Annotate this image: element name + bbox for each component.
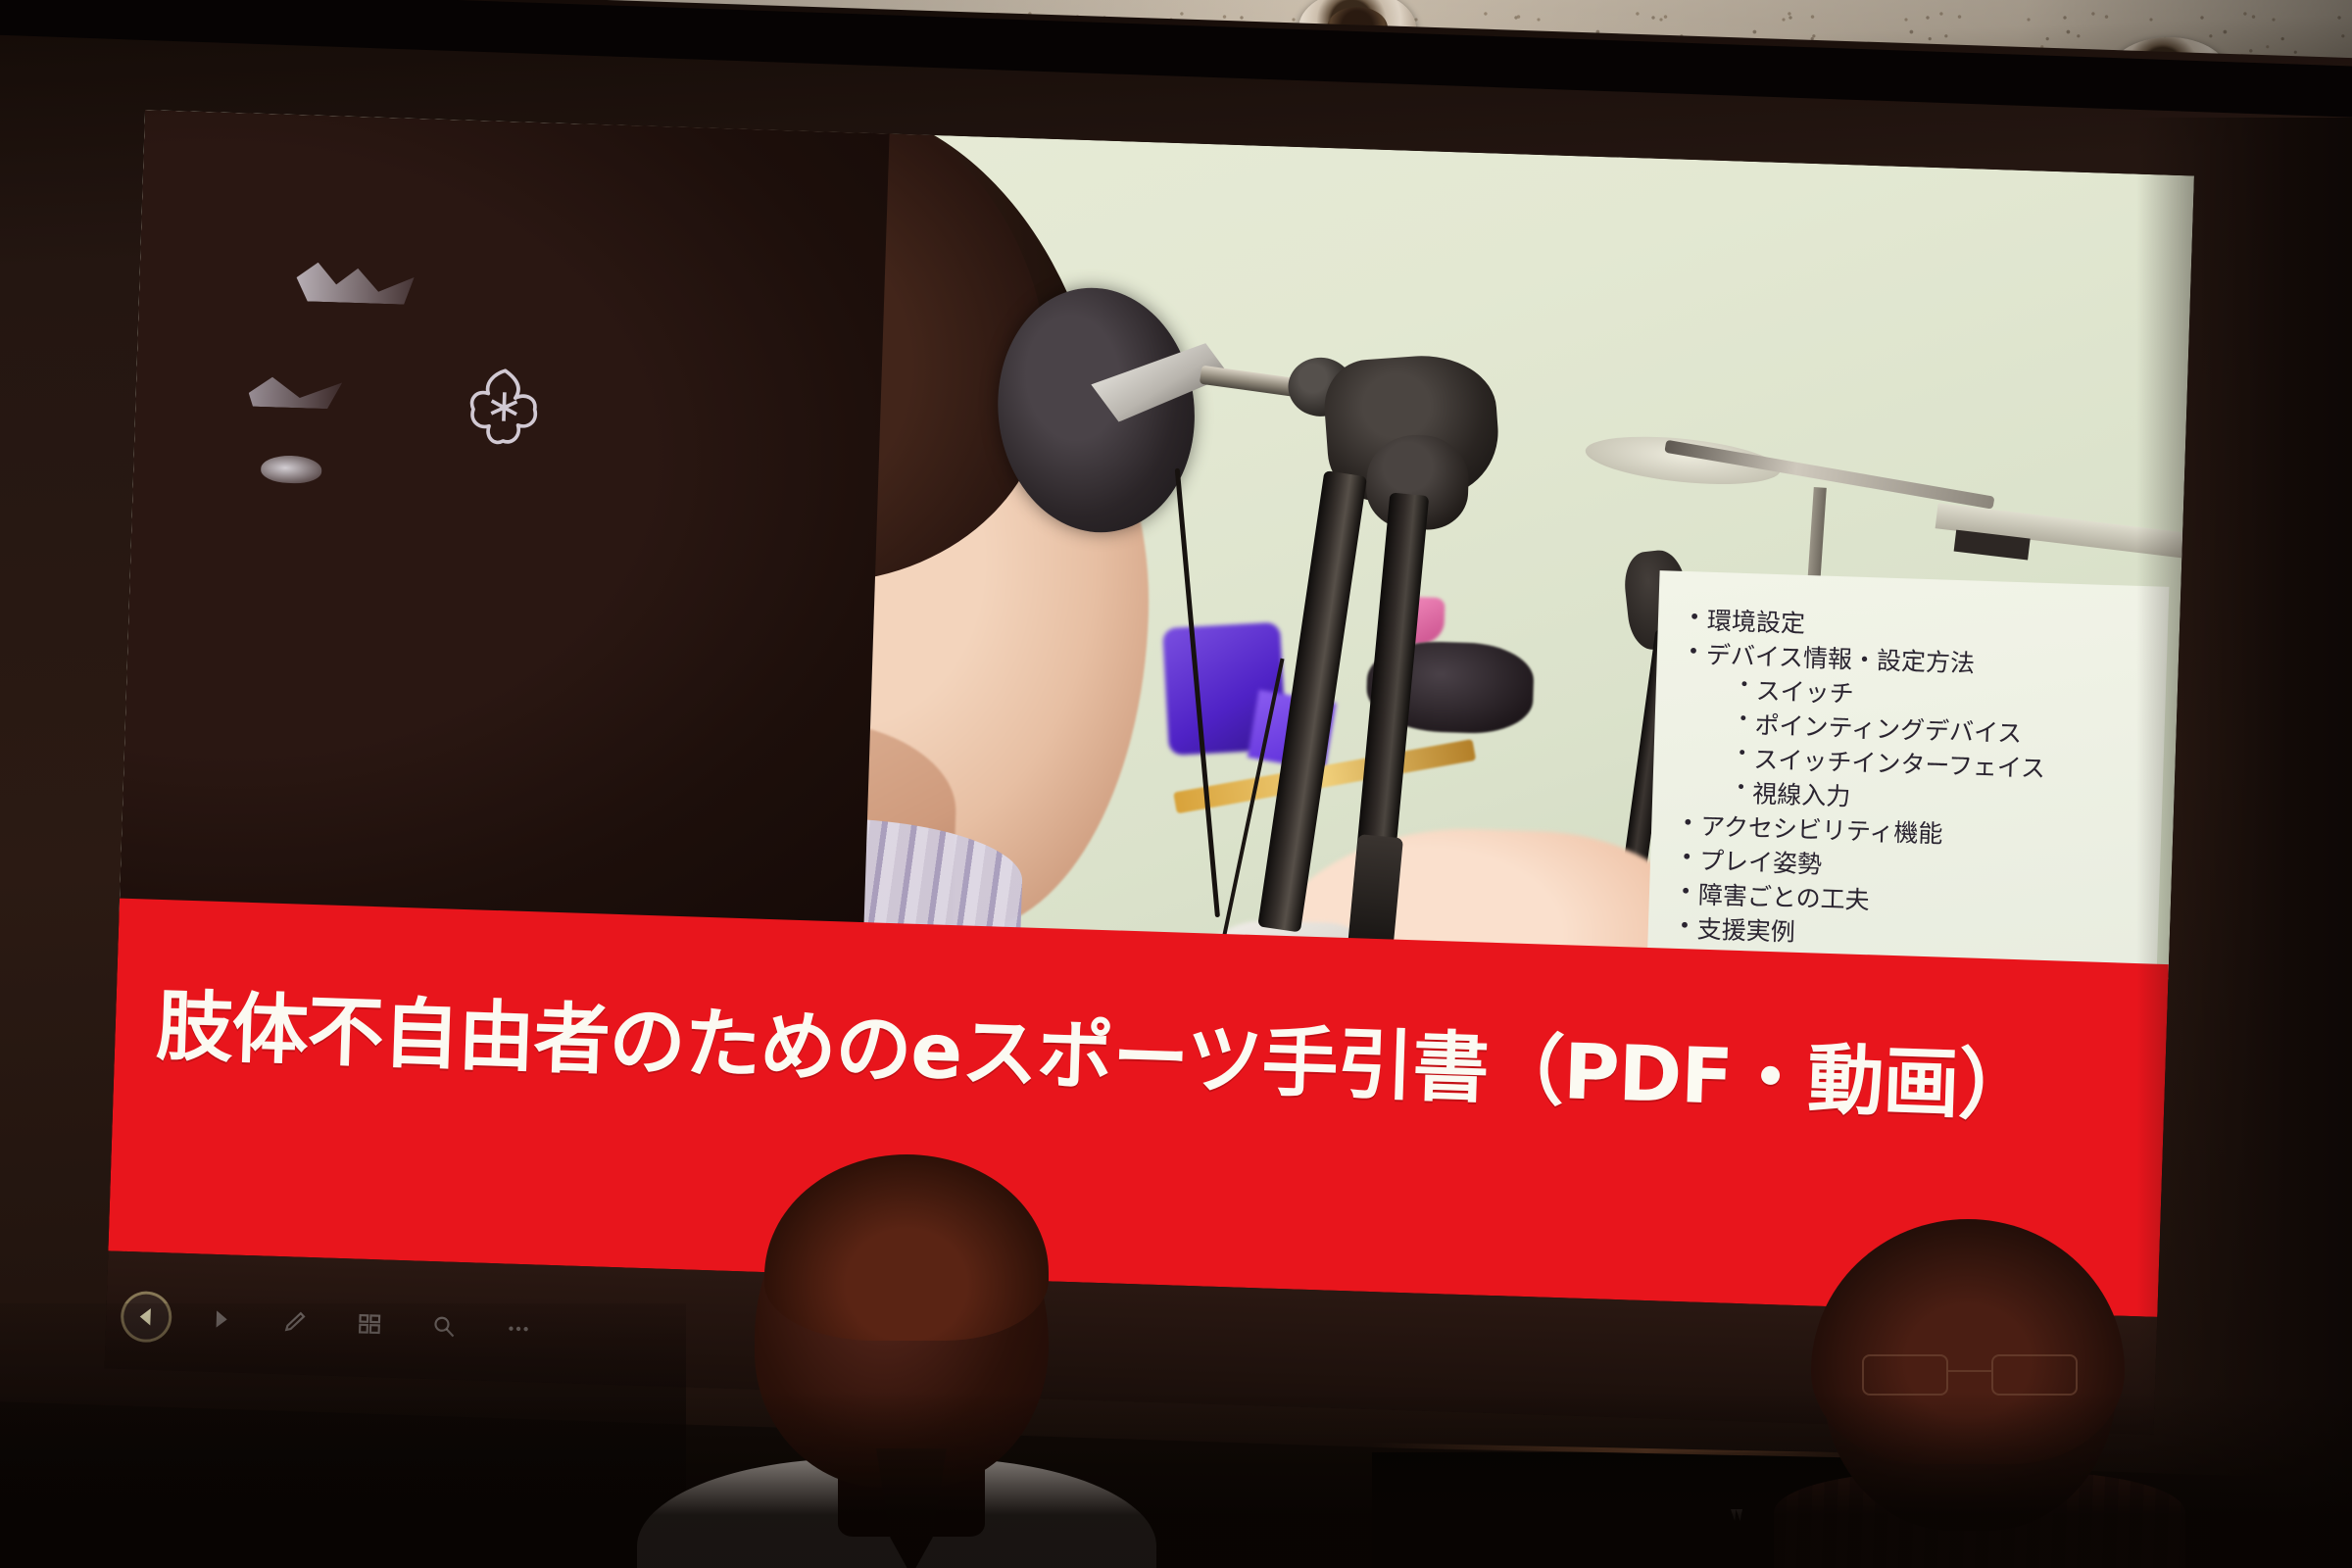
bullet-marker-icon: • (1682, 605, 1708, 630)
bullet-label: 障害ごとの工夫 (1697, 880, 1870, 917)
slide-bullet-textbox: •環境設定•デバイス情報・設定方法•スイッチ•ポインティングデバイス•スイッチイ… (1646, 570, 2170, 1008)
bullet-label: スイッチインターフェイス (1753, 744, 2046, 785)
bullet-label: プレイ姿勢 (1699, 846, 1823, 881)
bullet-label: 視線入力 (1752, 778, 1851, 812)
bullet-label: 支援実例 (1696, 914, 1795, 949)
bullet-marker-icon: • (1681, 639, 1707, 664)
bullet-label: アクセシビリティ機能 (1700, 811, 1943, 851)
bullet-label: 環境設定 (1706, 606, 1805, 640)
bullet-label: デバイス情報・設定方法 (1705, 640, 1975, 680)
bullet-label: スイッチ (1755, 675, 1854, 710)
screenshot-stage: •環境設定•デバイス情報・設定方法•スイッチ•ポインティングデバイス•スイッチイ… (0, 0, 2352, 1568)
bullet-marker-icon: • (1730, 744, 1754, 766)
bullet-label: ポインティングデバイス (1754, 710, 2023, 750)
glasses-icon (1862, 1354, 2078, 1396)
bullet-marker-icon: • (1733, 675, 1757, 698)
bullet-marker-icon: • (1674, 845, 1700, 870)
bullet-marker-icon: • (1731, 710, 1755, 732)
bullet-marker-icon: • (1672, 913, 1698, 939)
photo-dark-left-area (120, 110, 890, 937)
blossom-motif-icon (458, 361, 551, 454)
bullet-marker-icon: • (1673, 879, 1699, 905)
bullet-marker-icon: • (1675, 810, 1701, 836)
bullet-marker-icon: • (1729, 778, 1753, 801)
foreground-shadow (0, 1392, 2352, 1568)
